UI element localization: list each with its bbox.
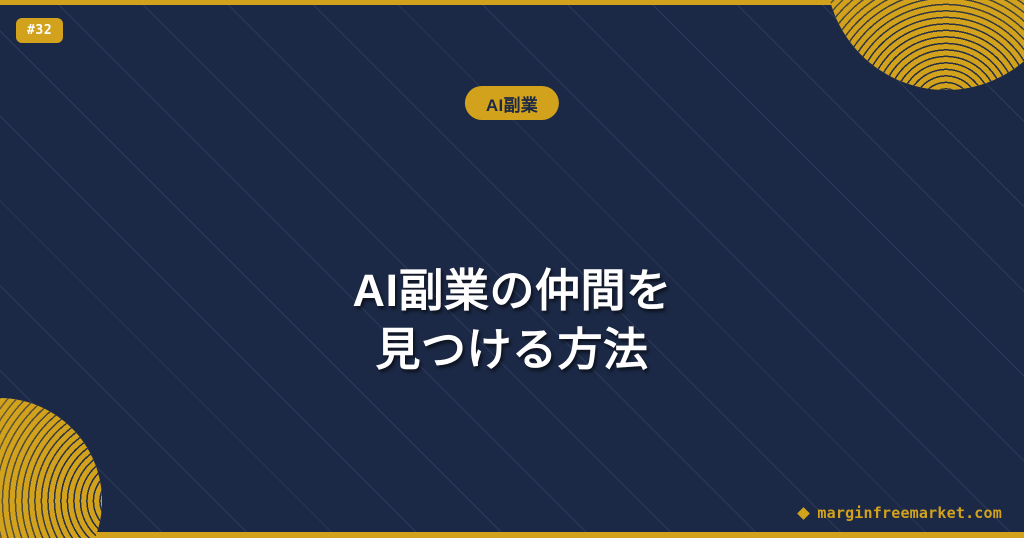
page-title-line-2: 見つける方法 <box>40 321 984 380</box>
halftone-circle-bottom-left <box>0 398 102 538</box>
diamond-icon <box>798 507 811 520</box>
slide-number-badge: #32 <box>16 18 63 43</box>
slide-canvas: #32 AI副業 AI副業の仲間を 見つける方法 marginfreemarke… <box>0 0 1024 538</box>
page-title-line-1: AI副業の仲間を <box>40 262 984 321</box>
halftone-dots-icon <box>0 398 102 538</box>
halftone-dots-icon <box>826 0 1024 90</box>
brand-footer: marginfreemarket.com <box>799 504 1002 522</box>
category-pill: AI副業 <box>465 86 559 120</box>
halftone-circle-top-right <box>826 0 1024 90</box>
gold-bottom-rule <box>0 532 1024 538</box>
brand-url-label: marginfreemarket.com <box>817 504 1002 522</box>
page-title: AI副業の仲間を 見つける方法 <box>0 262 1024 379</box>
